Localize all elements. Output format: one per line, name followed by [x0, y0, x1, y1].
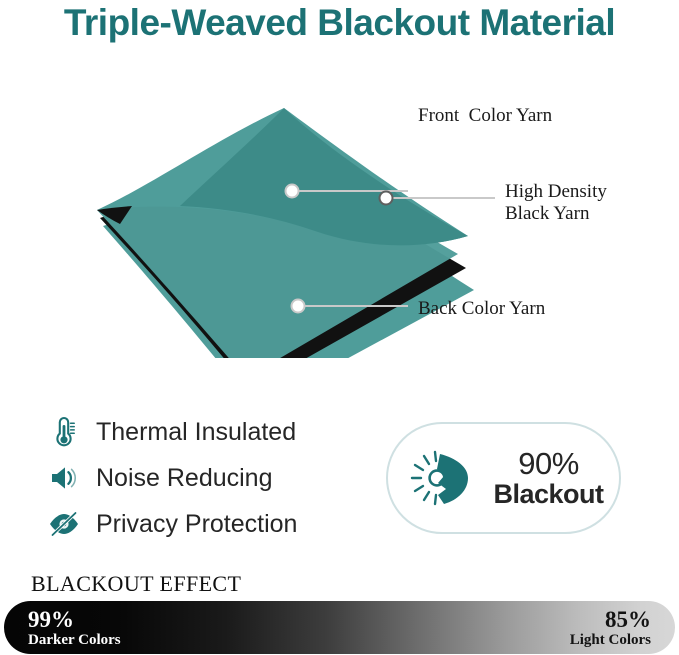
- eye-off-icon: [44, 506, 84, 542]
- effect-right-group: 85% Light Colors: [570, 608, 651, 649]
- blackout-effect-bar: 99% Darker Colors 85% Light Colors: [4, 601, 675, 654]
- feature-item-privacy: Privacy Protection: [44, 502, 374, 546]
- effect-right-percent: 85%: [570, 608, 651, 631]
- effect-left-percent: 99%: [28, 608, 121, 631]
- callout-dot-icon: [292, 300, 305, 313]
- feature-label-privacy: Privacy Protection: [96, 510, 297, 539]
- callout-label-front: Front Color Yarn: [418, 105, 552, 127]
- effect-left-group: 99% Darker Colors: [28, 608, 121, 649]
- feature-item-noise: Noise Reducing: [44, 456, 374, 500]
- blackout-percent: 90%: [486, 448, 611, 481]
- feature-label-noise: Noise Reducing: [96, 464, 273, 493]
- speaker-icon: [44, 460, 84, 496]
- feature-list: Thermal Insulated Noise Reducing Privacy…: [44, 410, 374, 548]
- callout-dot-icon: [286, 185, 299, 198]
- thermometer-icon: [44, 414, 84, 450]
- sun-behind-curtain-icon: [402, 440, 486, 516]
- blackout-effect-heading: BLACKOUT EFFECT: [31, 571, 241, 597]
- callout-label-back: Back Color Yarn: [418, 298, 545, 320]
- feature-label-thermal: Thermal Insulated: [96, 418, 296, 447]
- blackout-word: Blackout: [486, 480, 611, 508]
- blackout-badge-text: 90% Blackout: [486, 448, 619, 509]
- effect-left-caption: Darker Colors: [28, 633, 121, 648]
- feature-item-thermal: Thermal Insulated: [44, 410, 374, 454]
- page-title: Triple-Weaved Blackout Material: [0, 2, 679, 44]
- callout-label-middle: High Density Black Yarn: [505, 181, 607, 226]
- callout-dot-icon: [380, 192, 393, 205]
- blackout-badge: 90% Blackout: [386, 422, 621, 534]
- effect-right-caption: Light Colors: [570, 633, 651, 648]
